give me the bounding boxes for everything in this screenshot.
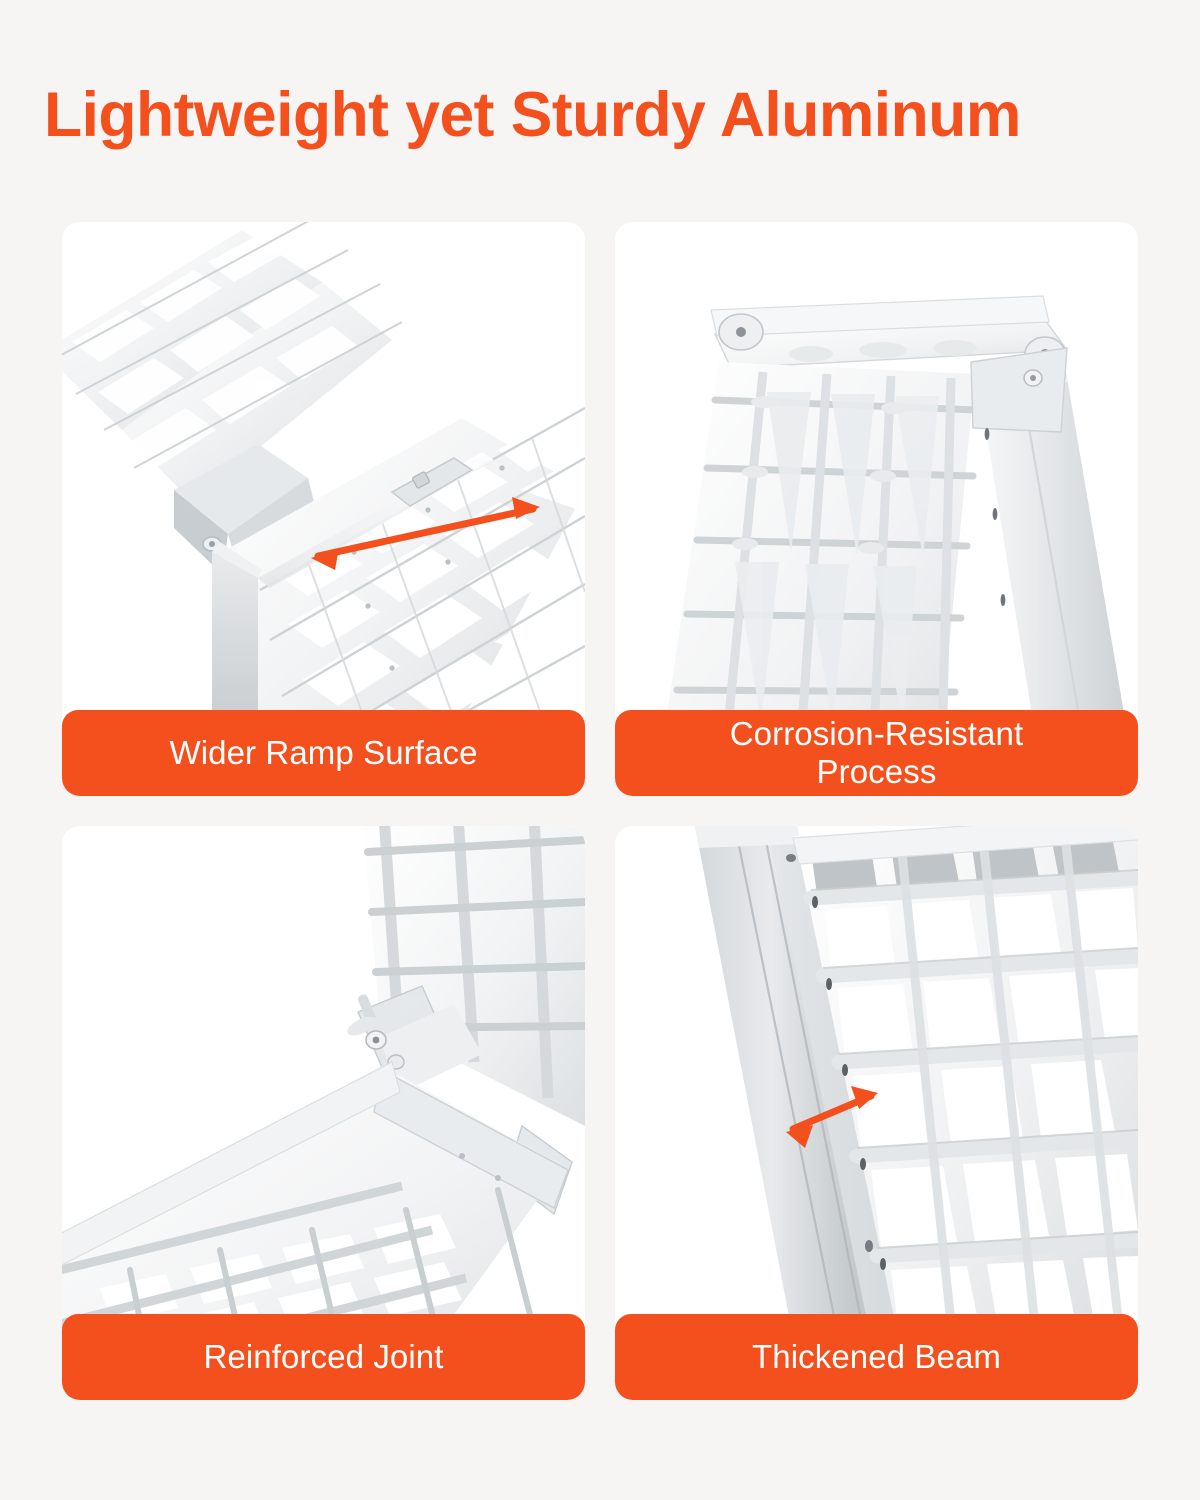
card-caption-line2: Process xyxy=(817,753,937,790)
card-caption-text: Corrosion-ResistantProcess xyxy=(730,715,1024,791)
feature-card-wider-ramp-surface[interactable]: Wider Ramp Surface xyxy=(62,222,585,796)
card-caption-bar: Thickened Beam xyxy=(615,1314,1138,1400)
feature-card-grid: Wider Ramp Surface xyxy=(62,222,1138,1400)
page-title: Lightweight yet Sturdy Aluminum xyxy=(44,78,1163,158)
card-caption-bar: Reinforced Joint xyxy=(62,1314,585,1400)
card-caption-text: Wider Ramp Surface xyxy=(169,733,477,773)
card-caption-text: Thickened Beam xyxy=(752,1337,1001,1377)
card-caption-bar: Wider Ramp Surface xyxy=(62,710,585,796)
feature-card-thickened-beam[interactable]: Thickened Beam xyxy=(615,826,1138,1400)
card-caption-bar: Corrosion-ResistantProcess xyxy=(615,710,1138,796)
feature-card-reinforced-joint[interactable]: Reinforced Joint xyxy=(62,826,585,1400)
card-caption-line1: Corrosion-Resistant xyxy=(730,715,1024,752)
card-caption-text: Reinforced Joint xyxy=(203,1337,443,1377)
infographic-page: Lightweight yet Sturdy Aluminum xyxy=(0,0,1200,1500)
feature-card-corrosion-resistant-process[interactable]: Corrosion-ResistantProcess xyxy=(615,222,1138,796)
